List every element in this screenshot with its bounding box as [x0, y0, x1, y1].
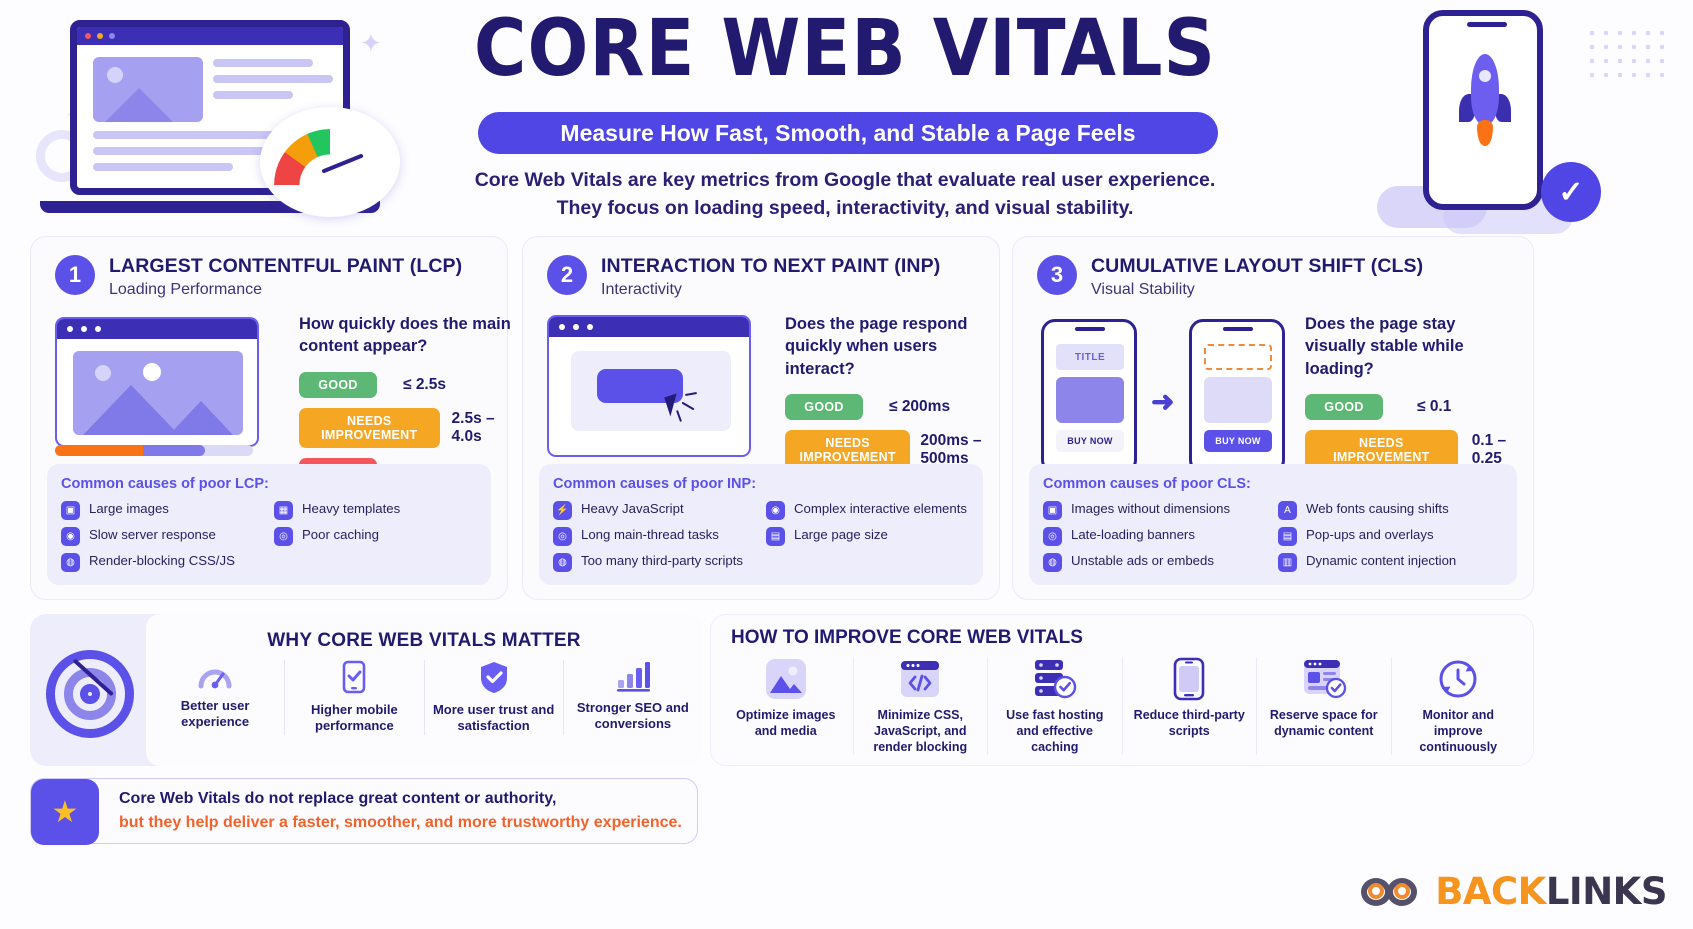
- cause-item: ⚡ Heavy JavaScript: [553, 501, 756, 520]
- rating-pill-good: GOOD: [785, 394, 863, 420]
- metric-card-lcp: 1 LARGEST CONTENTFUL PAINT (LCP) Loading…: [30, 236, 508, 600]
- how-item-label: Reduce third-party scripts: [1129, 707, 1251, 739]
- infographic-page: ✦ ✦ CORE: [0, 0, 1693, 929]
- dynamic-content-icon: ▥: [1278, 553, 1297, 572]
- card-title: INTERACTION TO NEXT PAINT (INP): [601, 255, 940, 278]
- shield-check-icon: [479, 660, 509, 694]
- window-dot-blue: [109, 33, 115, 39]
- cause-item: ◍ Too many third-party scripts: [553, 553, 756, 572]
- cause-label: Late-loading banners: [1071, 527, 1195, 544]
- cause-label: Poor caching: [302, 527, 379, 544]
- image-icon: ▣: [1043, 501, 1062, 520]
- page-size-icon: ▤: [766, 527, 785, 546]
- phone-before: TITLE BUY NOW: [1041, 319, 1137, 474]
- card-header: 2 INTERACTION TO NEXT PAINT (INP) Intera…: [547, 255, 983, 299]
- threshold-value: ≤ 0.1: [1417, 398, 1451, 416]
- causes-title: Common causes of poor CLS:: [1043, 476, 1503, 492]
- logo-text: BACKLINKS: [1435, 870, 1667, 913]
- card-number-badge: 3: [1037, 255, 1077, 295]
- card-question: How quickly does the main content appear…: [299, 313, 514, 358]
- why-item-label: Higher mobile performance: [289, 702, 419, 735]
- lcp-visual: [55, 317, 259, 447]
- cause-label: Large page size: [794, 527, 888, 544]
- why-section: WHY CORE WEB VITALS MATTER Better user e…: [30, 614, 702, 766]
- card-question: Does the page stay visually stable while…: [1305, 313, 1520, 380]
- browser-mock: [55, 317, 259, 447]
- mobile-check-icon: [342, 660, 366, 694]
- page-description: Core Web Vitals are key metrics from Goo…: [420, 166, 1270, 223]
- how-item-label: Use fast hosting and effective caching: [994, 707, 1116, 755]
- rating-pill-needs-improvement: NEEDS IMPROVEMENT: [299, 408, 440, 448]
- threshold-row-good: GOOD ≤ 2.5s: [299, 372, 514, 398]
- threshold-value: 2.5s – 4.0s: [452, 410, 514, 446]
- why-item-label: Stronger SEO and conversions: [568, 700, 698, 733]
- loading-progress-bar: [55, 445, 253, 456]
- threshold-row-good: GOOD ≤ 200ms: [785, 394, 1000, 420]
- note-line-2: but they help deliver a faster, smoother…: [119, 814, 682, 832]
- font-icon: A: [1278, 501, 1297, 520]
- why-item-label: Better user experience: [150, 698, 280, 731]
- cause-label: Large images: [89, 501, 169, 518]
- card-number-badge: 2: [547, 255, 587, 295]
- cause-item: ▣ Large images: [61, 501, 264, 520]
- card-number-badge: 1: [55, 255, 95, 295]
- cache-icon: ◎: [274, 527, 293, 546]
- how-item-fast-hosting: Use fast hosting and effective caching: [987, 657, 1122, 755]
- inp-visual: [547, 315, 751, 457]
- server-check-icon: [1032, 657, 1078, 701]
- card-header: 1 LARGEST CONTENTFUL PAINT (LCP) Loading…: [55, 255, 491, 299]
- server-icon: ◉: [61, 527, 80, 546]
- rating-pill-good: GOOD: [299, 372, 377, 398]
- ads-icon: ◍: [1043, 553, 1062, 572]
- bar-chart-icon: [616, 660, 650, 692]
- how-section: HOW TO IMPROVE CORE WEB VITALS Optimize …: [710, 614, 1534, 766]
- description-line-2: They focus on loading speed, interactivi…: [557, 197, 1134, 219]
- window-dot-red: [85, 33, 91, 39]
- lcp-causes: Common causes of poor LCP: ▣ Large image…: [47, 464, 491, 585]
- chain-link-icon: [1361, 872, 1427, 912]
- image-icon: [764, 657, 808, 701]
- how-item-label: Reserve space for dynamic content: [1263, 707, 1385, 739]
- cause-item: ▣ Images without dimensions: [1043, 501, 1268, 520]
- speed-gauge-icon: [260, 107, 400, 217]
- threshold-row-good: GOOD ≤ 0.1: [1305, 394, 1533, 420]
- cause-item: A Web fonts causing shifts: [1278, 501, 1503, 520]
- card-subtitle: Visual Stability: [1091, 281, 1423, 299]
- description-line-1: Core Web Vitals are key metrics from Goo…: [475, 169, 1216, 191]
- cause-item: ◎ Late-loading banners: [1043, 527, 1268, 546]
- check-badge-icon: ✓: [1541, 162, 1601, 222]
- why-item-better-user-experience: Better user experience: [146, 660, 284, 735]
- causes-title: Common causes of poor INP:: [553, 476, 969, 492]
- how-item-monitor-improve: Monitor and improve continuously: [1391, 657, 1526, 755]
- rocket-icon: [1457, 54, 1513, 150]
- cause-label: Render-blocking CSS/JS: [89, 553, 235, 570]
- metric-cards: 1 LARGEST CONTENTFUL PAINT (LCP) Loading…: [0, 236, 1693, 602]
- footer-note: ★ Core Web Vitals do not replace great c…: [30, 778, 698, 844]
- causes-title: Common causes of poor LCP:: [61, 476, 477, 492]
- banner-icon: ◎: [1043, 527, 1062, 546]
- cause-item: ◉ Complex interactive elements: [766, 501, 969, 520]
- arrow-right-icon: ➜: [1151, 385, 1174, 418]
- how-item-label: Monitor and improve continuously: [1398, 707, 1520, 755]
- phone-title-placeholder: [1204, 344, 1272, 370]
- cause-item: ◍ Render-blocking CSS/JS: [61, 553, 264, 572]
- page-subtitle-banner: Measure How Fast, Smooth, and Stable a P…: [478, 112, 1218, 154]
- why-item-label: More user trust and satisfaction: [429, 702, 559, 735]
- phone-mock: [1423, 10, 1543, 210]
- cause-label: Heavy JavaScript: [581, 501, 684, 518]
- card-subtitle: Interactivity: [601, 281, 940, 299]
- metric-card-cls: 3 CUMULATIVE LAYOUT SHIFT (CLS) Visual S…: [1012, 236, 1534, 600]
- cause-item: ▤ Pop-ups and overlays: [1278, 527, 1503, 546]
- why-item-higher-mobile-performance: Higher mobile performance: [284, 660, 423, 735]
- logo-text-part1: BACK: [1435, 870, 1546, 913]
- cause-label: Pop-ups and overlays: [1306, 527, 1434, 544]
- card-header: 3 CUMULATIVE LAYOUT SHIFT (CLS) Visual S…: [1037, 255, 1517, 299]
- cause-label: Long main-thread tasks: [581, 527, 719, 544]
- page-title: CORE WEB VITALS: [422, 10, 1269, 88]
- cause-label: Unstable ads or embeds: [1071, 553, 1214, 570]
- why-section-title: WHY CORE WEB VITALS MATTER: [146, 630, 702, 652]
- laptop-illustration: ✦ ✦: [30, 12, 400, 227]
- speedometer-icon: [198, 660, 232, 690]
- card-question: Does the page respond quickly when users…: [785, 313, 1000, 380]
- cause-label: Images without dimensions: [1071, 501, 1230, 518]
- threshold-value: 0.1 – 0.25: [1472, 432, 1533, 468]
- why-item-stronger-seo: Stronger SEO and conversions: [563, 660, 702, 735]
- cause-label: Slow server response: [89, 527, 216, 544]
- cause-item: ◉ Slow server response: [61, 527, 264, 546]
- cause-label: Complex interactive elements: [794, 501, 967, 518]
- cause-item: ◍ Unstable ads or embeds: [1043, 553, 1268, 572]
- third-party-scripts-icon: ◍: [553, 553, 572, 572]
- how-item-reserve-space: Reserve space for dynamic content: [1256, 657, 1391, 755]
- why-item-more-user-trust: More user trust and satisfaction: [424, 660, 563, 735]
- sparkle-icon: ✦: [360, 28, 382, 59]
- cause-label: Heavy templates: [302, 501, 400, 518]
- image-placeholder: [93, 57, 203, 122]
- backlinks-logo[interactable]: BACKLINKS: [1361, 870, 1667, 913]
- how-item-minimize-css-js: Minimize CSS, JavaScript, and render blo…: [853, 657, 988, 755]
- buy-now-button-after: BUY NOW: [1204, 430, 1272, 452]
- image-icon: ▣: [61, 501, 80, 520]
- header: ✦ ✦ CORE: [0, 0, 1693, 248]
- rating-pill-good: GOOD: [1305, 394, 1383, 420]
- cause-label: Too many third-party scripts: [581, 553, 743, 570]
- how-item-label: Minimize CSS, JavaScript, and render blo…: [860, 707, 982, 755]
- buy-now-button-before: BUY NOW: [1056, 430, 1124, 452]
- layout-check-icon: [1301, 657, 1347, 701]
- inp-causes: Common causes of poor INP: ⚡ Heavy JavaS…: [539, 464, 983, 585]
- note-line-1: Core Web Vitals do not replace great con…: [119, 790, 556, 808]
- javascript-icon: ⚡: [553, 501, 572, 520]
- card-title: CUMULATIVE LAYOUT SHIFT (CLS): [1091, 255, 1423, 278]
- threshold-value: ≤ 200ms: [889, 398, 950, 416]
- cause-item: ◎ Long main-thread tasks: [553, 527, 756, 546]
- cause-label: Dynamic content injection: [1306, 553, 1456, 570]
- why-inner-card: WHY CORE WEB VITALS MATTER Better user e…: [146, 614, 702, 766]
- metric-card-inp: 2 INTERACTION TO NEXT PAINT (INP) Intera…: [522, 236, 1000, 600]
- browser-mock: [547, 315, 751, 457]
- interactive-elements-icon: ◉: [766, 501, 785, 520]
- refresh-monitor-icon: [1436, 657, 1480, 701]
- cause-item: ▤ Large page size: [766, 527, 969, 546]
- card-subtitle: Loading Performance: [109, 281, 462, 299]
- template-icon: ▦: [274, 501, 293, 520]
- code-window-icon: [898, 657, 942, 701]
- popup-icon: ▤: [1278, 527, 1297, 546]
- cause-label: Web fonts causing shifts: [1306, 501, 1449, 518]
- target-arrow-icon: [46, 650, 134, 738]
- star-icon: ★: [31, 779, 99, 845]
- cause-item: ▥ Dynamic content injection: [1278, 553, 1503, 572]
- cause-item: ◎ Poor caching: [274, 527, 477, 546]
- phone-title-label: TITLE: [1056, 344, 1124, 370]
- threshold-row-needs-improvement: NEEDS IMPROVEMENT 2.5s – 4.0s: [299, 408, 514, 448]
- logo-text-part2: LINKS: [1546, 870, 1667, 913]
- how-section-title: HOW TO IMPROVE CORE WEB VITALS: [731, 627, 1083, 649]
- how-item-reduce-third-party: Reduce third-party scripts: [1122, 657, 1257, 755]
- threshold-value: 200ms – 500ms: [920, 432, 1000, 468]
- cls-causes: Common causes of poor CLS: ▣ Images with…: [1029, 464, 1517, 585]
- how-item-label: Optimize images and media: [725, 707, 847, 739]
- phone-after: BUY NOW: [1189, 319, 1285, 474]
- how-item-optimize-images: Optimize images and media: [719, 657, 853, 755]
- browser-titlebar: [77, 27, 343, 45]
- phone-icon: [1173, 657, 1205, 701]
- thread-icon: ◎: [553, 527, 572, 546]
- dot-grid-decoration: [1585, 26, 1669, 78]
- cause-item: ▦ Heavy templates: [274, 501, 477, 520]
- code-block-icon: ◍: [61, 553, 80, 572]
- card-title: LARGEST CONTENTFUL PAINT (LCP): [109, 255, 462, 278]
- threshold-value: ≤ 2.5s: [403, 376, 446, 394]
- window-dot-yellow: [97, 33, 103, 39]
